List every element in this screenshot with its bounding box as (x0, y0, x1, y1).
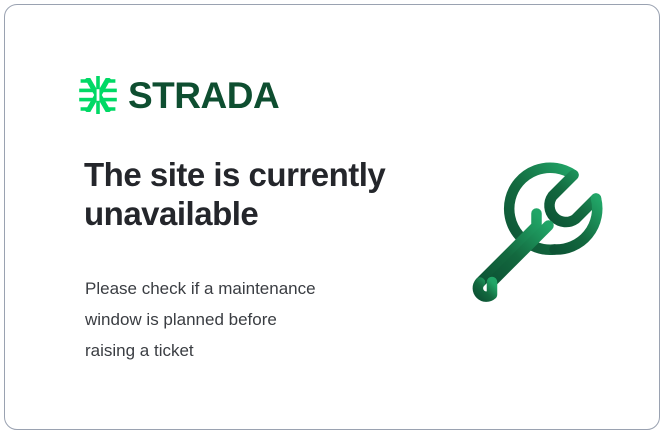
page-title: The site is currently unavailable (84, 155, 424, 233)
brand-wordmark: STRADA (128, 77, 279, 114)
wrench-illustration (460, 160, 612, 312)
status-description: Please check if a maintenance window is … (85, 273, 415, 366)
status-description-line: Please check if a maintenance (85, 273, 415, 304)
brand-lockup: STRADA (77, 71, 279, 119)
strada-asterisk-icon (77, 74, 119, 116)
status-description-line: raising a ticket (85, 335, 415, 366)
page-root: STRADA The site is currently unavailable… (0, 0, 666, 436)
status-card: STRADA The site is currently unavailable… (4, 4, 660, 430)
status-description-line: window is planned before (85, 304, 415, 335)
wrench-icon (460, 160, 612, 312)
